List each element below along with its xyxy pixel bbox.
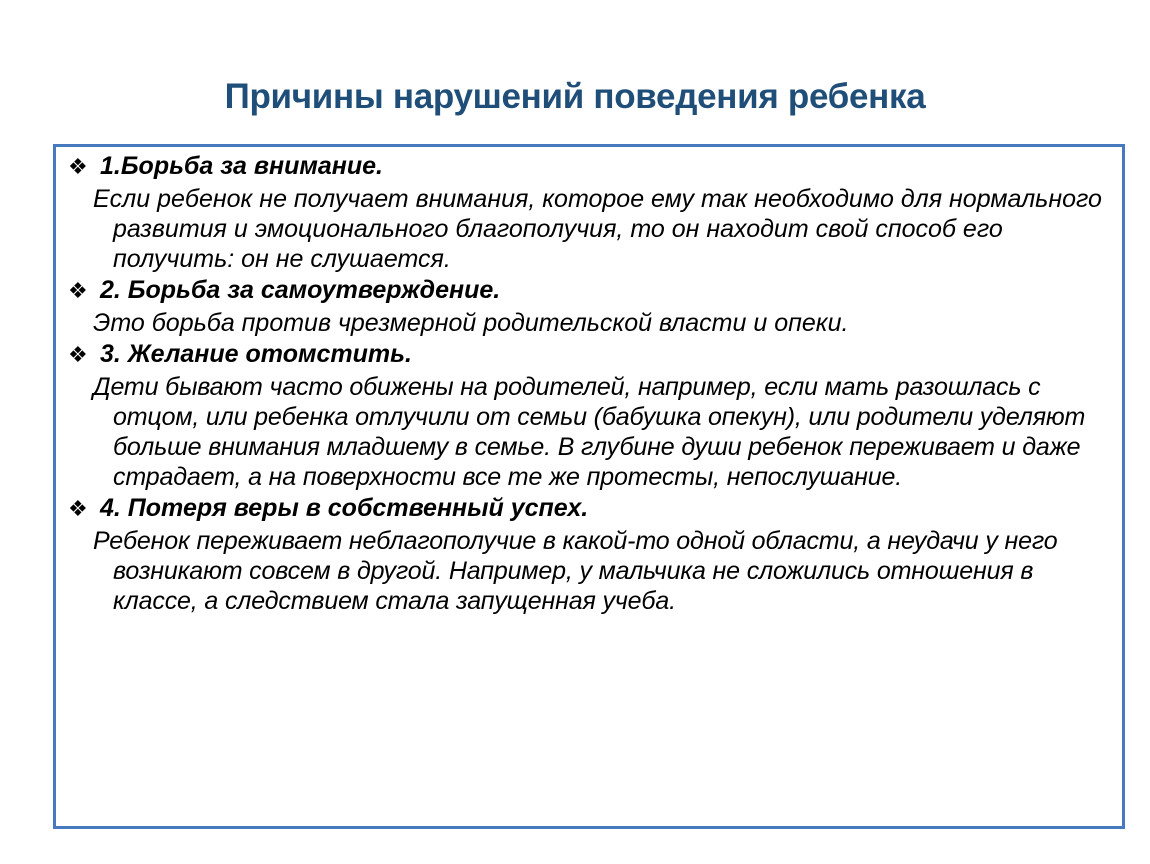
list-item-body: Это борьба против чрезмерной родительско… [66, 308, 1112, 338]
list-item-heading-text: 1.Борьба за внимание. [100, 151, 1112, 182]
diamond-bullet-icon: ❖ [66, 275, 100, 306]
list-item-heading: ❖ 1.Борьба за внимание. [66, 151, 1112, 182]
diamond-bullet-icon: ❖ [66, 151, 100, 182]
content-box: ❖ 1.Борьба за внимание. Если ребенок не … [53, 144, 1125, 829]
list-item-body: Ребенок переживает неблагополучие в како… [66, 526, 1112, 616]
list-item-heading-text: 3. Желание отомстить. [100, 339, 1112, 370]
list-item-heading: ❖ 2. Борьба за самоутверждение. [66, 275, 1112, 306]
list-item: ❖ 1.Борьба за внимание. Если ребенок не … [66, 151, 1112, 274]
diamond-bullet-icon: ❖ [66, 493, 100, 524]
list-item-heading-text: 4. Потеря веры в собственный успех. [100, 493, 1112, 524]
list-item: ❖ 2. Борьба за самоутверждение. Это борь… [66, 275, 1112, 338]
list-item-heading-text: 2. Борьба за самоутверждение. [100, 275, 1112, 306]
slide: Причины нарушений поведения ребенка ❖ 1.… [0, 0, 1150, 864]
list-item: ❖ 3. Желание отомстить. Дети бывают част… [66, 339, 1112, 492]
list-item-heading: ❖ 3. Желание отомстить. [66, 339, 1112, 370]
list-item-body: Дети бывают часто обижены на родителей, … [66, 372, 1112, 492]
diamond-bullet-icon: ❖ [66, 339, 100, 370]
causes-list: ❖ 1.Борьба за внимание. Если ребенок не … [66, 151, 1112, 616]
list-item: ❖ 4. Потеря веры в собственный успех. Ре… [66, 493, 1112, 616]
list-item-body: Если ребенок не получает внимания, котор… [66, 184, 1112, 274]
list-item-heading: ❖ 4. Потеря веры в собственный успех. [66, 493, 1112, 524]
page-title: Причины нарушений поведения ребенка [0, 76, 1150, 118]
